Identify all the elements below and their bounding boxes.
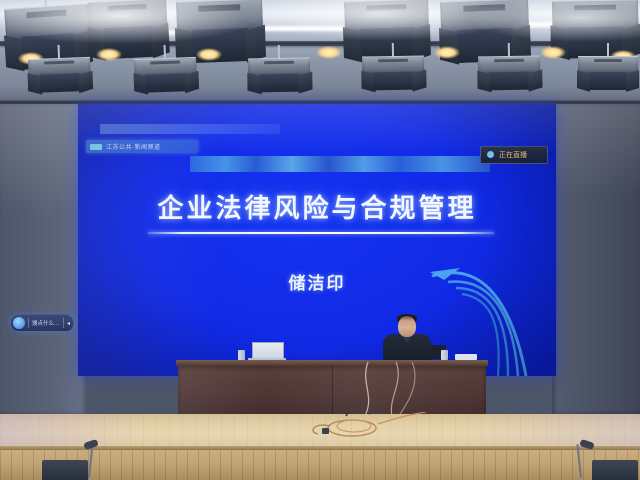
title-divider — [148, 232, 494, 234]
fixture-barn-door — [246, 24, 266, 62]
fixture-label — [26, 9, 67, 18]
seated-presenter-head — [398, 316, 416, 337]
stage-light-fixture — [362, 55, 425, 90]
divider — [28, 318, 29, 328]
stage-light-fixture — [248, 57, 311, 92]
fixture-barn-door — [412, 69, 426, 91]
fixture-front — [259, 73, 299, 92]
fixture-label — [494, 59, 524, 63]
wall-panel-right — [552, 104, 640, 414]
fixture-label — [463, 4, 505, 11]
stage-apron-paneling — [0, 450, 640, 480]
projection-screen[interactable]: 江苏公共·新闻频道 正在直播 企业法律风险与合规管理 储洁印 — [78, 104, 556, 376]
fixture-label — [594, 59, 623, 62]
fixture-barn-door — [152, 22, 170, 58]
fixture-label — [109, 4, 147, 11]
stage-light-fixture — [478, 55, 541, 90]
floor-monitor-speaker — [592, 460, 638, 480]
lecture-hall-screenshot: 江苏公共·新闻频道 正在直播 企业法律风险与合规管理 储洁印 搜点什么… — [0, 0, 640, 480]
floating-search-widget[interactable]: 搜点什么… ◂ — [10, 314, 74, 332]
stage-light-fixture — [578, 56, 638, 90]
projected-thumbnail-filmstrip[interactable] — [190, 156, 490, 172]
stage-light-fixture — [134, 57, 197, 93]
fixture-label — [574, 4, 615, 10]
fixture-label — [366, 4, 406, 11]
projected-channel-label: 江苏公共·新闻频道 — [106, 142, 161, 151]
stage-light-fixture — [28, 57, 91, 93]
wall-panel-left — [0, 104, 86, 414]
fixture-barn-door — [298, 71, 312, 93]
ceiling-downlight — [196, 48, 222, 61]
ceiling-downlight — [540, 46, 566, 59]
fixture-front — [373, 71, 413, 90]
paper-cup — [441, 350, 448, 360]
fixture-barn-door — [626, 70, 639, 91]
fixture-label — [199, 4, 240, 11]
fixture-front — [40, 73, 80, 93]
fixture-yoke — [607, 43, 609, 57]
fixture-label — [378, 59, 408, 63]
fixture-barn-door — [528, 69, 542, 91]
fixture-barn-door — [78, 71, 92, 93]
search-icon — [13, 317, 25, 329]
collapse-button[interactable]: ◂ — [67, 320, 70, 327]
fixture-barn-door — [184, 71, 198, 93]
fixture-front — [146, 73, 186, 93]
fixture-label — [264, 61, 294, 65]
stage-light-fixture — [344, 0, 430, 61]
signal-icon — [90, 144, 102, 150]
live-status-label: 正在直播 — [499, 150, 527, 160]
fixture-front — [589, 72, 627, 90]
projected-channel-tab[interactable]: 江苏公共·新闻频道 — [86, 140, 198, 153]
ceiling-downlight — [316, 46, 342, 59]
projected-top-bar — [100, 124, 280, 134]
fixture-label — [44, 61, 74, 65]
fixture-yoke — [278, 45, 280, 59]
slide-author: 储洁印 — [78, 269, 556, 294]
ceiling-downlight — [96, 48, 122, 61]
fixture-front — [489, 71, 529, 90]
slide-title: 企业法律风险与合规管理 — [78, 188, 556, 225]
live-dot-icon — [487, 151, 494, 158]
fixture-label — [150, 61, 180, 65]
floor-monitor-speaker — [42, 460, 88, 480]
fixture-yoke — [508, 43, 510, 57]
swoosh-arc-decoration — [430, 248, 550, 376]
divider — [63, 318, 64, 328]
fixture-yoke — [392, 43, 394, 57]
ceiling-downlight — [434, 46, 460, 59]
live-status-badge: 正在直播 — [480, 146, 548, 164]
search-input[interactable]: 搜点什么… — [32, 319, 60, 327]
